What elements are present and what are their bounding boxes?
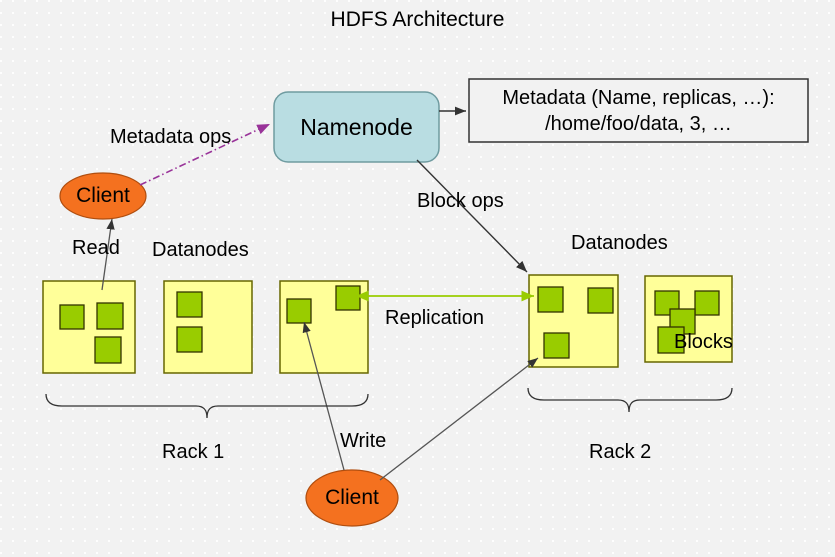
- replication-label: Replication: [385, 307, 484, 330]
- block: [177, 327, 202, 352]
- block: [588, 288, 613, 313]
- read-label: Read: [72, 237, 120, 260]
- block: [538, 287, 563, 312]
- block-ops-arrow: [417, 160, 527, 272]
- rack2-brace: [528, 388, 732, 412]
- client-bottom-label: Client: [306, 470, 398, 526]
- blocks-label: Blocks: [674, 331, 733, 354]
- datanode-2[interactable]: [164, 281, 252, 373]
- hdfs-architecture-diagram: HDFS Architecture Namenode Metadata (Nam…: [0, 0, 835, 557]
- datanodes-left-label: Datanodes: [152, 239, 249, 262]
- block: [544, 333, 569, 358]
- block: [287, 299, 311, 323]
- metadata-line-1: Metadata (Name, replicas, …):: [502, 85, 774, 111]
- block: [177, 292, 202, 317]
- metadata-box-text: Metadata (Name, replicas, …): /home/foo/…: [469, 79, 808, 142]
- block: [97, 303, 123, 329]
- block: [695, 291, 719, 315]
- metadata-line-2: /home/foo/data, 3, …: [545, 111, 732, 137]
- page-title: HDFS Architecture: [0, 8, 835, 32]
- namenode-label: Namenode: [274, 92, 439, 162]
- write-arrow-rack2: [380, 358, 538, 480]
- block: [95, 337, 121, 363]
- client-top-label: Client: [60, 173, 146, 219]
- block: [336, 286, 360, 310]
- datanodes-right-label: Datanodes: [571, 232, 668, 255]
- rack1-brace: [46, 394, 368, 418]
- block-ops-label: Block ops: [417, 190, 504, 213]
- write-label: Write: [340, 430, 386, 453]
- datanode-1[interactable]: [43, 281, 135, 373]
- block: [60, 305, 84, 329]
- datanode-3[interactable]: [280, 281, 368, 373]
- metadata-ops-label: Metadata ops: [110, 126, 231, 149]
- rack1-label: Rack 1: [162, 441, 224, 464]
- rack2-label: Rack 2: [589, 441, 651, 464]
- datanode-4[interactable]: [529, 275, 618, 367]
